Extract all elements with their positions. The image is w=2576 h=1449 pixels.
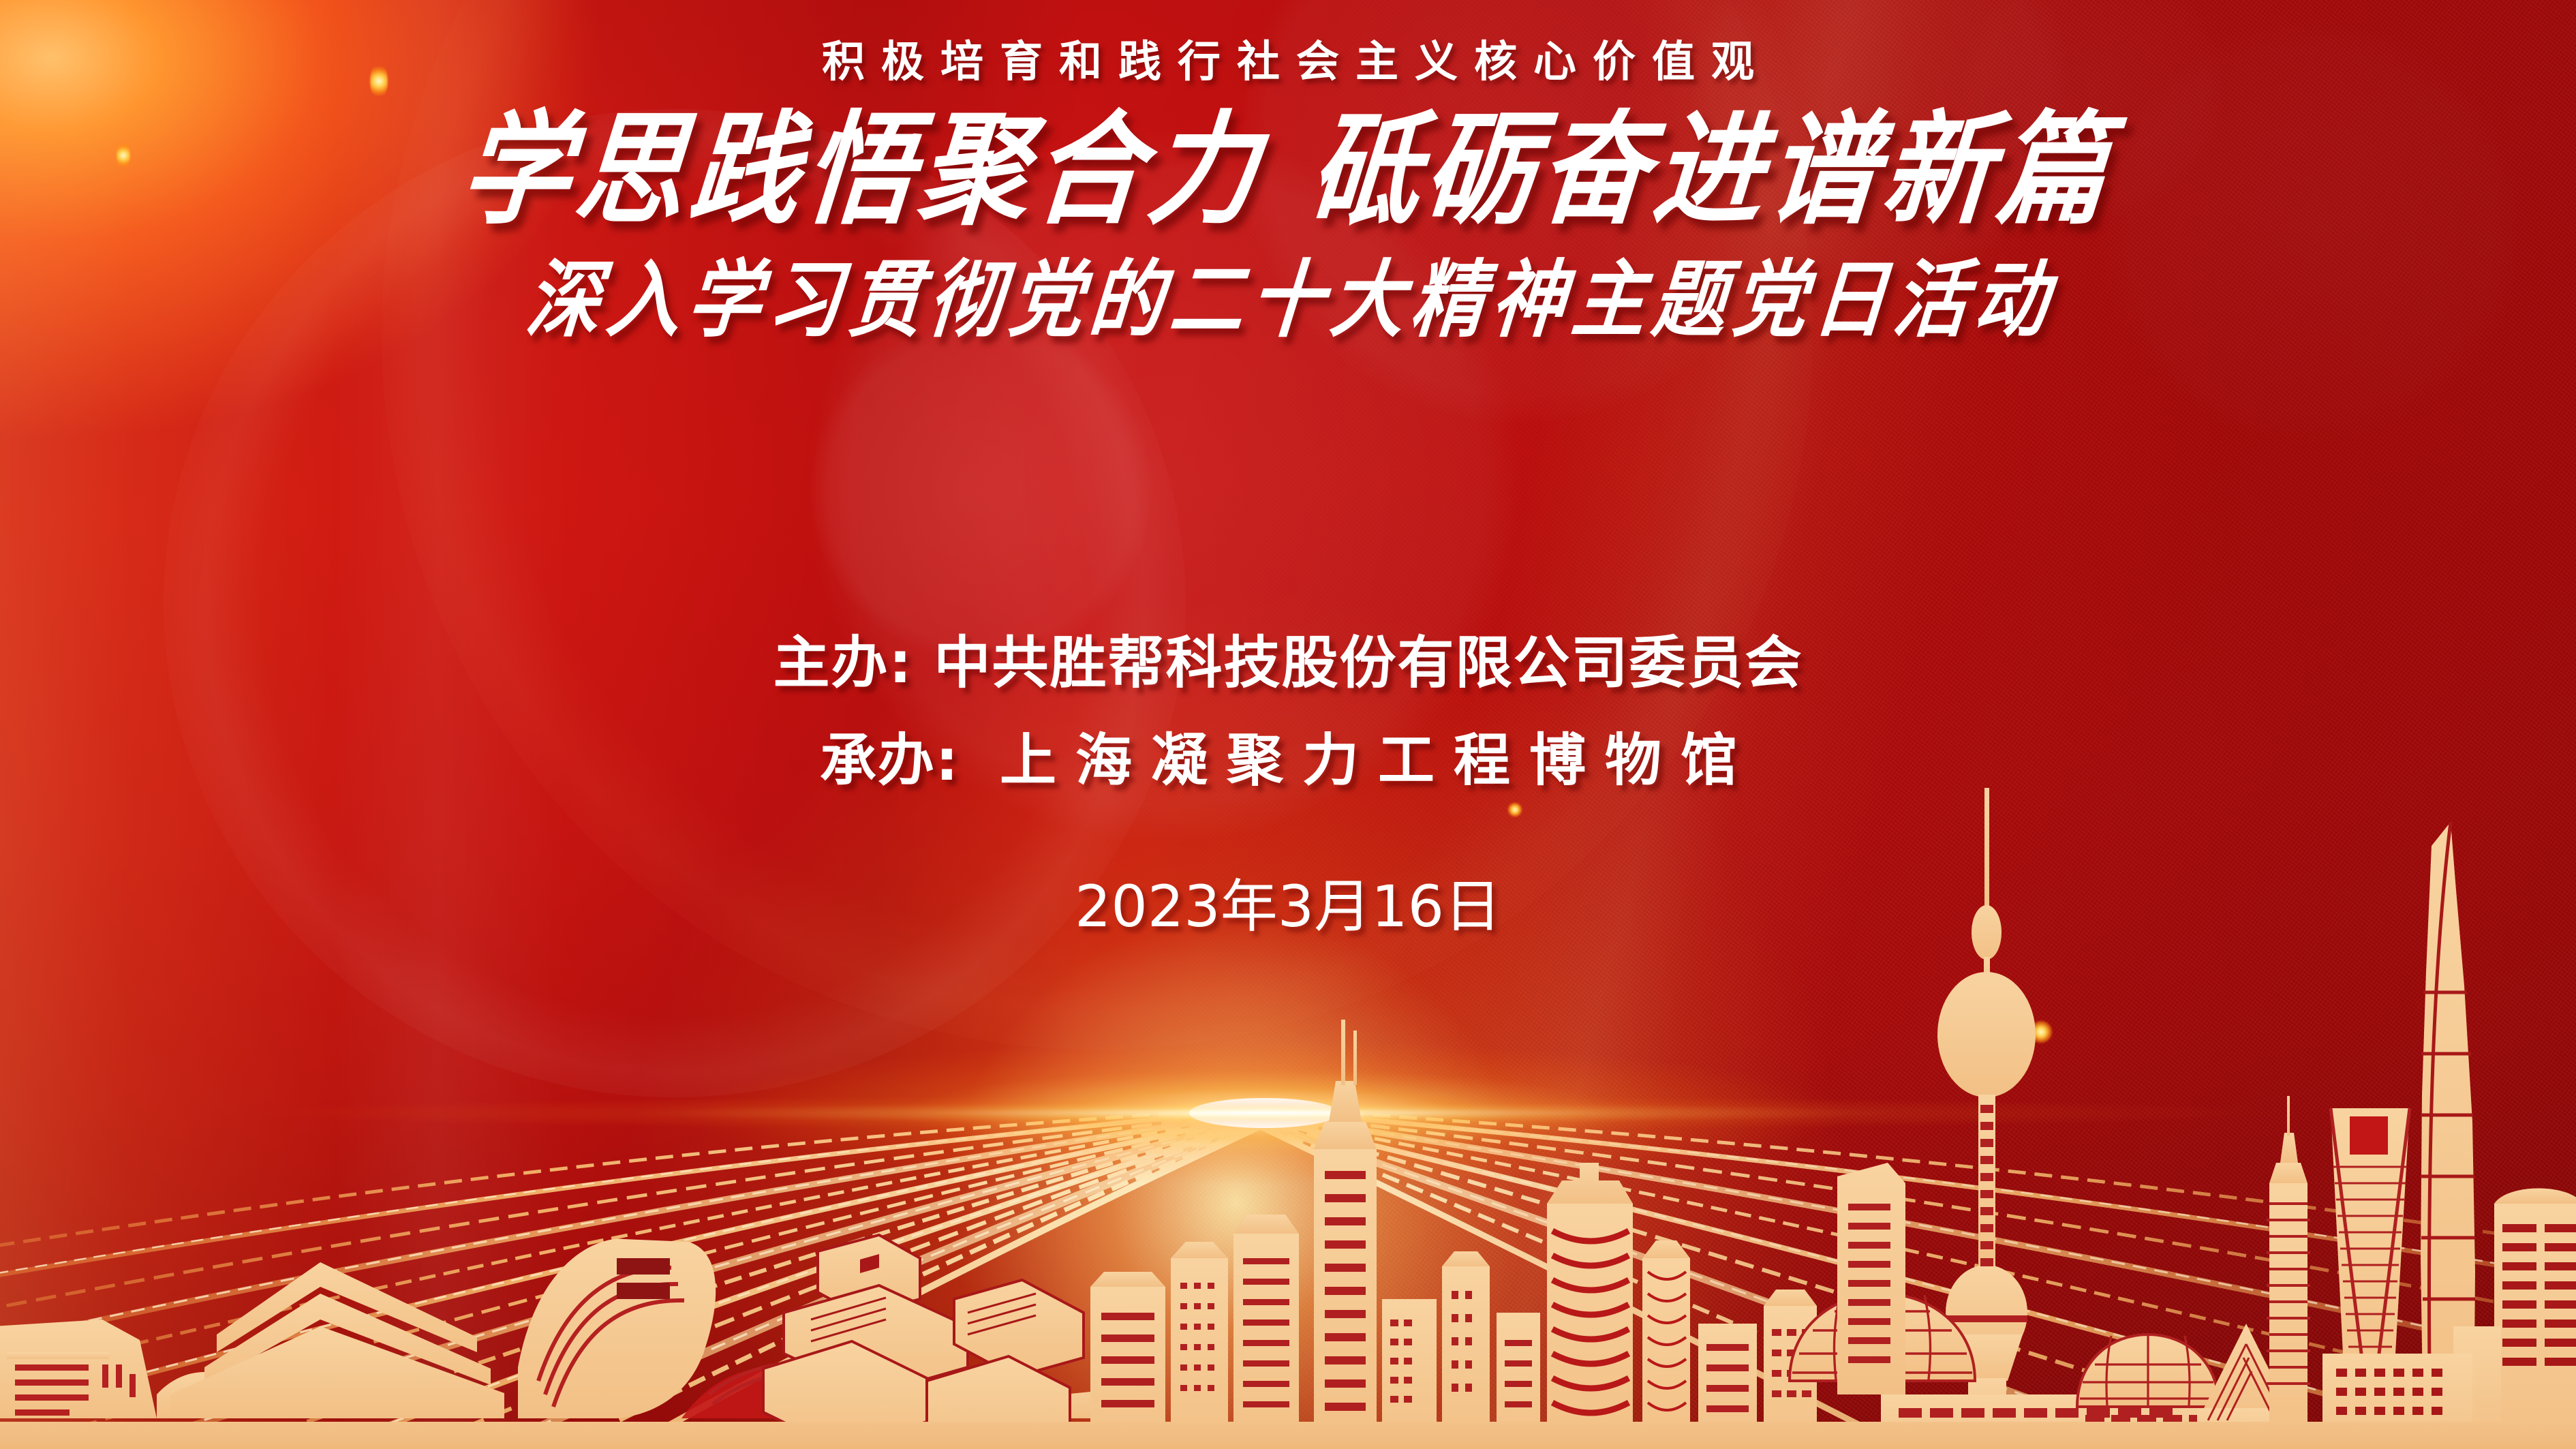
main-title: 学思践悟聚合力砥砺奋进谱新篇	[0, 71, 2576, 248]
host-label: 主办:	[773, 630, 913, 696]
main-title-part1: 学思践悟聚合力	[455, 97, 1269, 241]
host-name: 中共胜帮科技股份有限公司委员会	[934, 630, 1803, 696]
cohost-name: 上海凝聚力工程博物馆	[981, 714, 1756, 796]
cohost-line: 承办: 上海凝聚力工程博物馆	[0, 714, 2576, 796]
banner-text-content: 积极培育和践行社会主义核心价值观 学思践悟聚合力砥砺奋进谱新篇 深入学习贯彻党的…	[0, 0, 2576, 1449]
event-date: 2023年3月16日	[0, 861, 2576, 943]
event-banner: 积极培育和践行社会主义核心价值观 学思践悟聚合力砥砺奋进谱新篇 深入学习贯彻党的…	[0, 0, 2576, 1449]
cohost-label: 承办:	[820, 727, 960, 793]
host-line: 主办: 中共胜帮科技股份有限公司委员会	[0, 617, 2576, 699]
main-title-part2: 砥砺奋进谱新篇	[1305, 97, 2119, 241]
subtitle: 深入学习贯彻党的二十大精神主题党日活动	[0, 232, 2576, 354]
